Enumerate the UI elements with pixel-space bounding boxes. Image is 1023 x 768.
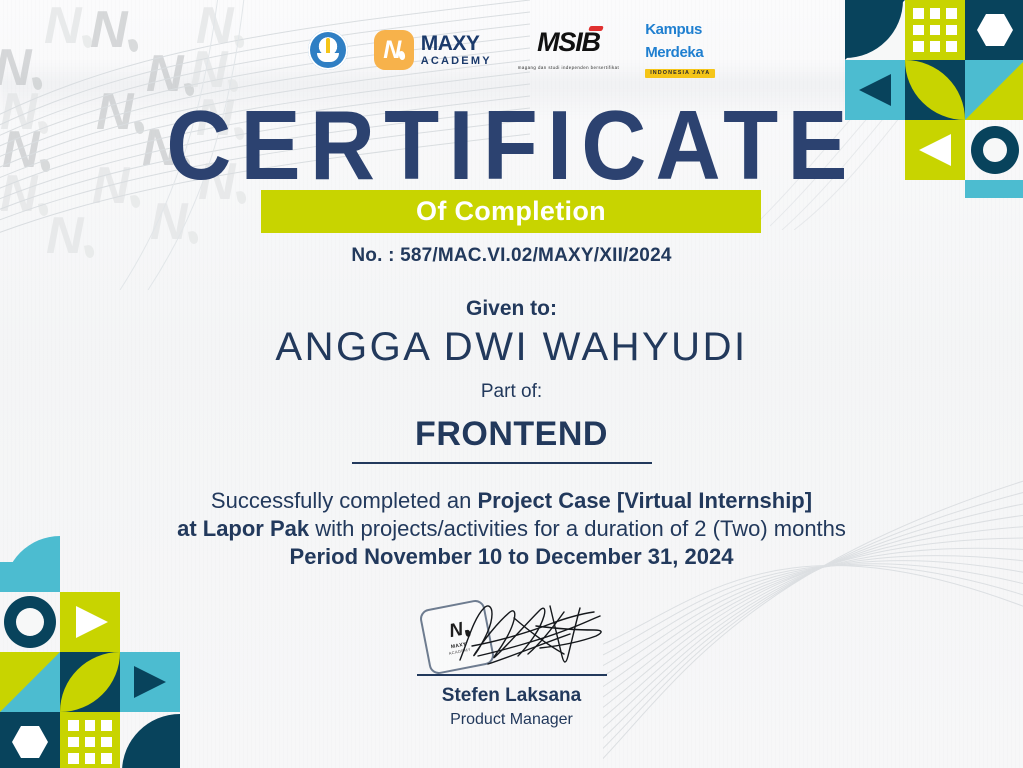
certificate-canvas: N N N N N N N N N N N N N N N N bbox=[0, 0, 1023, 768]
partner-logos: N MAXY ACADEMY MSIB magang dan studi ind… bbox=[0, 26, 1023, 74]
handwritten-signature-icon bbox=[454, 600, 614, 677]
logo-maxy-academy: N MAXY ACADEMY bbox=[374, 30, 492, 70]
statement-line-2: at Lapor Pak with projects/activities fo… bbox=[0, 515, 1023, 543]
watermark-n-icon: N bbox=[0, 168, 36, 220]
maxy-mark-icon: N bbox=[374, 30, 414, 70]
recipient-name: ANGGA DWI WAHYUDI bbox=[0, 325, 1023, 370]
role-track: FRONTEND bbox=[0, 415, 1023, 454]
watermark-n-icon: N bbox=[0, 86, 36, 138]
watermark-n-icon: N bbox=[150, 196, 186, 248]
maxy-word-bottom: ACADEMY bbox=[421, 56, 492, 67]
certificate-subtitle-banner: Of Completion bbox=[261, 190, 761, 233]
certificate-title: CERTIFICATE bbox=[41, 96, 982, 194]
given-to-label: Given to: bbox=[0, 297, 1023, 321]
certificate-subtitle: Of Completion bbox=[416, 196, 606, 227]
statement-line-2-bold: at Lapor Pak bbox=[177, 516, 309, 541]
signature-artwork: N MAXY ACADEMY bbox=[402, 600, 622, 672]
statement-line-3-bold: Period November 10 to December 31, 2024 bbox=[290, 544, 734, 569]
statement-line-1-bold: Project Case [Virtual Internship] bbox=[478, 488, 813, 513]
statement-line-3: Period November 10 to December 31, 2024 bbox=[0, 543, 1023, 571]
kampus-merdeka-line2: Merdeka bbox=[645, 45, 703, 60]
part-of-label: Part of: bbox=[0, 381, 1023, 403]
signature-block: N MAXY ACADEMY bbox=[0, 600, 1023, 729]
logo-kampus-merdeka: Kampus Merdeka INDONESIA JAYA bbox=[645, 22, 715, 77]
signatory-role: Product Manager bbox=[0, 711, 1023, 729]
divider-rule bbox=[352, 462, 652, 464]
logo-kemendikbud bbox=[308, 30, 348, 70]
kampus-merdeka-line1: Kampus bbox=[645, 22, 702, 37]
kemendikbud-seal-icon bbox=[308, 30, 348, 70]
logo-msib: MSIB magang dan studi independen bersert… bbox=[518, 29, 619, 70]
certificate-number: No. : 587/MAC.VI.02/MAXY/XII/2024 bbox=[0, 245, 1023, 267]
completion-statement: Successfully completed an Project Case [… bbox=[0, 487, 1023, 571]
msib-wordmark: MSIB bbox=[537, 29, 600, 56]
msib-tagline: magang dan studi independen bersertifika… bbox=[518, 66, 619, 70]
maxy-word-top: MAXY bbox=[421, 33, 492, 54]
msib-flag-icon bbox=[588, 26, 604, 31]
signatory-name: Stefen Laksana bbox=[0, 685, 1023, 707]
statement-line-2-plain: with projects/activities for a duration … bbox=[309, 516, 846, 541]
statement-line-1-plain: Successfully completed an bbox=[211, 488, 478, 513]
statement-line-1: Successfully completed an Project Case [… bbox=[0, 487, 1023, 515]
kampus-merdeka-banner: INDONESIA JAYA bbox=[645, 69, 715, 77]
